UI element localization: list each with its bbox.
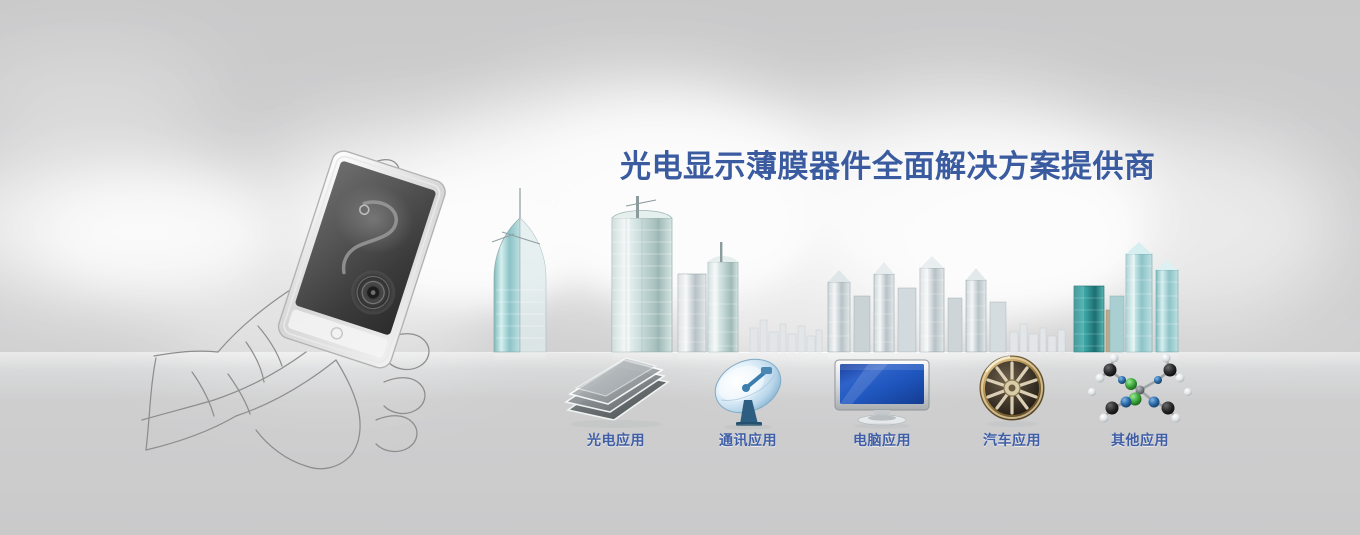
city-skyline-illustration xyxy=(450,170,1190,360)
app-item-automotive[interactable]: 汽车应用 xyxy=(952,352,1072,450)
app-item-other[interactable]: 其他应用 xyxy=(1080,352,1200,450)
app-label: 光电应用 xyxy=(556,430,676,450)
molecule-model-icon xyxy=(1080,352,1200,430)
application-icons-row: 光电应用 xyxy=(560,352,1200,462)
glass-film-panels-icon xyxy=(556,352,676,430)
app-label: 电脑应用 xyxy=(822,430,942,450)
car-wheel-rim-icon xyxy=(952,352,1072,430)
app-label: 通讯应用 xyxy=(688,430,808,450)
satellite-dish-icon xyxy=(688,352,808,430)
app-label: 其他应用 xyxy=(1080,430,1200,450)
app-item-communication[interactable]: 通讯应用 xyxy=(688,352,808,450)
hand-phone-illustration xyxy=(140,120,480,490)
app-item-optoelectronic[interactable]: 光电应用 xyxy=(556,352,676,450)
app-item-computer[interactable]: 电脑应用 xyxy=(822,352,942,450)
hero-banner: 光电应用 xyxy=(0,0,1360,535)
lcd-monitor-icon xyxy=(822,352,942,430)
page-title: 光电显示薄膜器件全面解决方案提供商 xyxy=(620,141,1156,186)
app-label: 汽车应用 xyxy=(952,430,1072,450)
